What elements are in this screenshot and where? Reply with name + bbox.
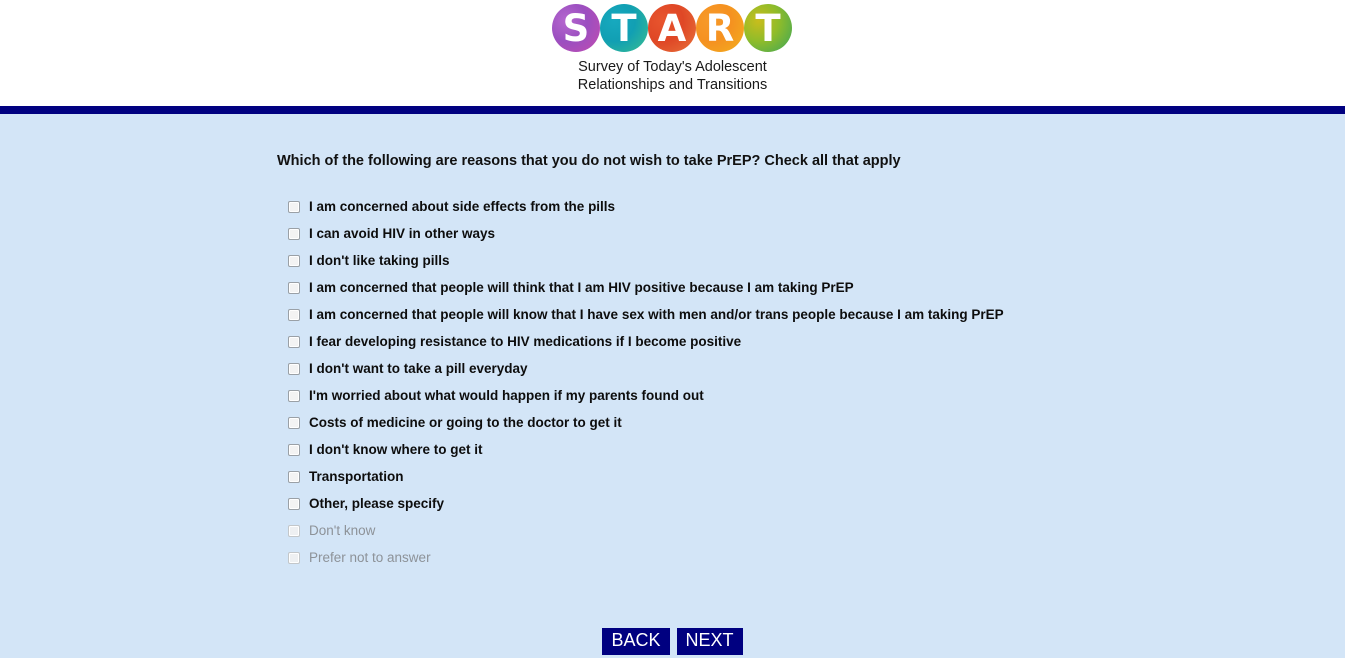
logo-letter-s: S xyxy=(563,10,590,47)
checkbox-option-row[interactable]: I am concerned that people will think th… xyxy=(288,274,1004,301)
logo-letter-circles: S T A R T xyxy=(553,4,792,52)
checkbox-input xyxy=(288,525,300,537)
checkbox-option-label: Transportation xyxy=(309,469,404,484)
back-button[interactable]: BACK xyxy=(602,628,669,655)
checkbox-input[interactable] xyxy=(288,282,300,294)
checkbox-input[interactable] xyxy=(288,471,300,483)
logo-circle-r: R xyxy=(696,4,744,52)
checkbox-option-label: Other, please specify xyxy=(309,496,444,511)
checkbox-option-row[interactable]: I can avoid HIV in other ways xyxy=(288,220,1004,247)
checkbox-option-label: I am concerned about side effects from t… xyxy=(309,199,615,214)
checkbox-option-label: I'm worried about what would happen if m… xyxy=(309,388,704,403)
checkbox-option-row[interactable]: I fear developing resistance to HIV medi… xyxy=(288,328,1004,355)
checkbox-option-row[interactable]: I don't want to take a pill everyday xyxy=(288,355,1004,382)
checkbox-input[interactable] xyxy=(288,390,300,402)
checkbox-option-row: Prefer not to answer xyxy=(288,544,1004,571)
checkbox-option-row[interactable]: Other, please specify xyxy=(288,490,1004,517)
logo-letter-t2: T xyxy=(755,10,780,47)
logo-subtitle-line1: Survey of Today's Adolescent xyxy=(578,58,767,76)
logo-circle-a: A xyxy=(648,4,696,52)
checkbox-option-label: Costs of medicine or going to the doctor… xyxy=(309,415,622,430)
checkbox-input[interactable] xyxy=(288,498,300,510)
checkbox-option-label: I fear developing resistance to HIV medi… xyxy=(309,334,741,349)
checkbox-option-row[interactable]: I am concerned about side effects from t… xyxy=(288,193,1004,220)
checkbox-input[interactable] xyxy=(288,255,300,267)
checkbox-option-label: I don't want to take a pill everyday xyxy=(309,361,528,376)
checkbox-input[interactable] xyxy=(288,444,300,456)
checkbox-input[interactable] xyxy=(288,417,300,429)
logo-letter-a: A xyxy=(658,10,687,47)
checkbox-input xyxy=(288,552,300,564)
checkbox-option-label: Don't know xyxy=(309,523,375,538)
question-text: Which of the following are reasons that … xyxy=(277,153,901,169)
logo-circle-t2: T xyxy=(744,4,792,52)
checkbox-input[interactable] xyxy=(288,336,300,348)
logo-subtitle-line2: Relationships and Transitions xyxy=(578,76,767,94)
checkbox-option-row[interactable]: I'm worried about what would happen if m… xyxy=(288,382,1004,409)
navigation-buttons: BACK NEXT xyxy=(0,628,1345,655)
checkbox-input[interactable] xyxy=(288,228,300,240)
checkbox-option-label: I am concerned that people will know tha… xyxy=(309,307,1004,322)
survey-body: Which of the following are reasons that … xyxy=(0,114,1345,658)
checkbox-option-row[interactable]: Costs of medicine or going to the doctor… xyxy=(288,409,1004,436)
header-divider-bar xyxy=(0,106,1345,114)
checkbox-option-list: I am concerned about side effects from t… xyxy=(288,193,1004,571)
checkbox-option-row[interactable]: Transportation xyxy=(288,463,1004,490)
logo-subtitle: Survey of Today's Adolescent Relationshi… xyxy=(578,58,767,94)
logo-letter-t1: T xyxy=(611,10,636,47)
page-header: S T A R T Survey of Today's Adolescent R… xyxy=(0,0,1345,106)
checkbox-input[interactable] xyxy=(288,309,300,321)
checkbox-option-label: I don't know where to get it xyxy=(309,442,482,457)
checkbox-input[interactable] xyxy=(288,201,300,213)
checkbox-option-label: I don't like taking pills xyxy=(309,253,449,268)
checkbox-option-row[interactable]: I am concerned that people will know tha… xyxy=(288,301,1004,328)
next-button[interactable]: NEXT xyxy=(677,628,743,655)
checkbox-option-label: Prefer not to answer xyxy=(309,550,431,565)
checkbox-option-row[interactable]: I don't like taking pills xyxy=(288,247,1004,274)
logo-letter-r: R xyxy=(706,10,735,47)
start-logo: S T A R T Survey of Today's Adolescent R… xyxy=(0,4,1345,94)
checkbox-option-label: I can avoid HIV in other ways xyxy=(309,226,495,241)
checkbox-option-row: Don't know xyxy=(288,517,1004,544)
checkbox-input[interactable] xyxy=(288,363,300,375)
checkbox-option-label: I am concerned that people will think th… xyxy=(309,280,854,295)
logo-circle-t1: T xyxy=(600,4,648,52)
checkbox-option-row[interactable]: I don't know where to get it xyxy=(288,436,1004,463)
logo-circle-s: S xyxy=(552,4,600,52)
